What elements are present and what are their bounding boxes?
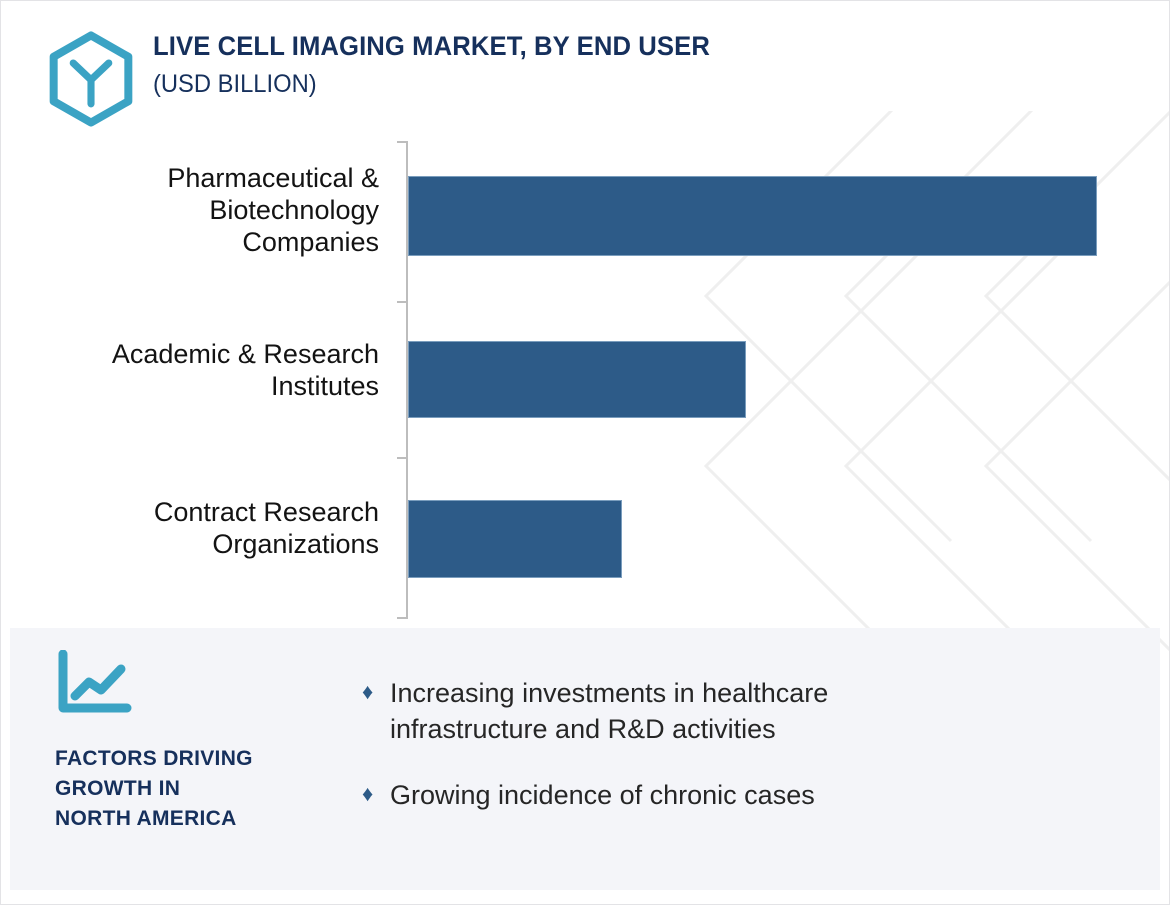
axis-tick-2 <box>397 457 407 459</box>
diamond-bullet-icon: ♦ <box>362 778 390 808</box>
title-block: LIVE CELL IMAGING MARKET, BY END USER (U… <box>153 27 739 100</box>
bullet-text-0: Increasing investments in healthcare inf… <box>390 676 990 748</box>
factors-bullet-list: ♦ Increasing investments in healthcare i… <box>362 676 1102 844</box>
bar-1 <box>408 341 746 418</box>
hexagon-y-logo-icon <box>45 31 137 127</box>
axis-tick-3 <box>397 617 407 619</box>
list-item: ♦ Growing incidence of chronic cases <box>362 778 1102 814</box>
chart-header: LIVE CELL IMAGING MARKET, BY END USER (U… <box>45 27 1105 127</box>
bar-chart: Pharmaceutical & Biotechnology Companies… <box>1 127 1169 627</box>
page-title: LIVE CELL IMAGING MARKET, BY END USER <box>153 31 710 63</box>
infographic-canvas: LIVE CELL IMAGING MARKET, BY END USER (U… <box>0 0 1170 905</box>
bar-0 <box>408 176 1097 256</box>
category-label-0: Pharmaceutical & Biotechnology Companies <box>0 163 379 259</box>
category-label-1: Academic & Research Institutes <box>0 339 379 403</box>
bullet-text-1: Growing incidence of chronic cases <box>390 778 815 814</box>
list-item: ♦ Increasing investments in healthcare i… <box>362 676 1102 748</box>
factors-panel-title: FACTORS DRIVING GROWTH IN NORTH AMERICA <box>55 744 355 833</box>
factors-panel: FACTORS DRIVING GROWTH IN NORTH AMERICA … <box>10 628 1160 890</box>
diamond-bullet-icon: ♦ <box>362 676 390 706</box>
page-subtitle: (USD BILLION) <box>153 68 710 101</box>
category-label-2: Contract Research Organizations <box>0 497 379 561</box>
axis-tick-0 <box>397 141 407 143</box>
factors-panel-heading: FACTORS DRIVING GROWTH IN NORTH AMERICA <box>55 650 355 833</box>
line-chart-trend-icon <box>55 650 133 716</box>
bar-2 <box>408 500 622 578</box>
axis-tick-1 <box>397 301 407 303</box>
